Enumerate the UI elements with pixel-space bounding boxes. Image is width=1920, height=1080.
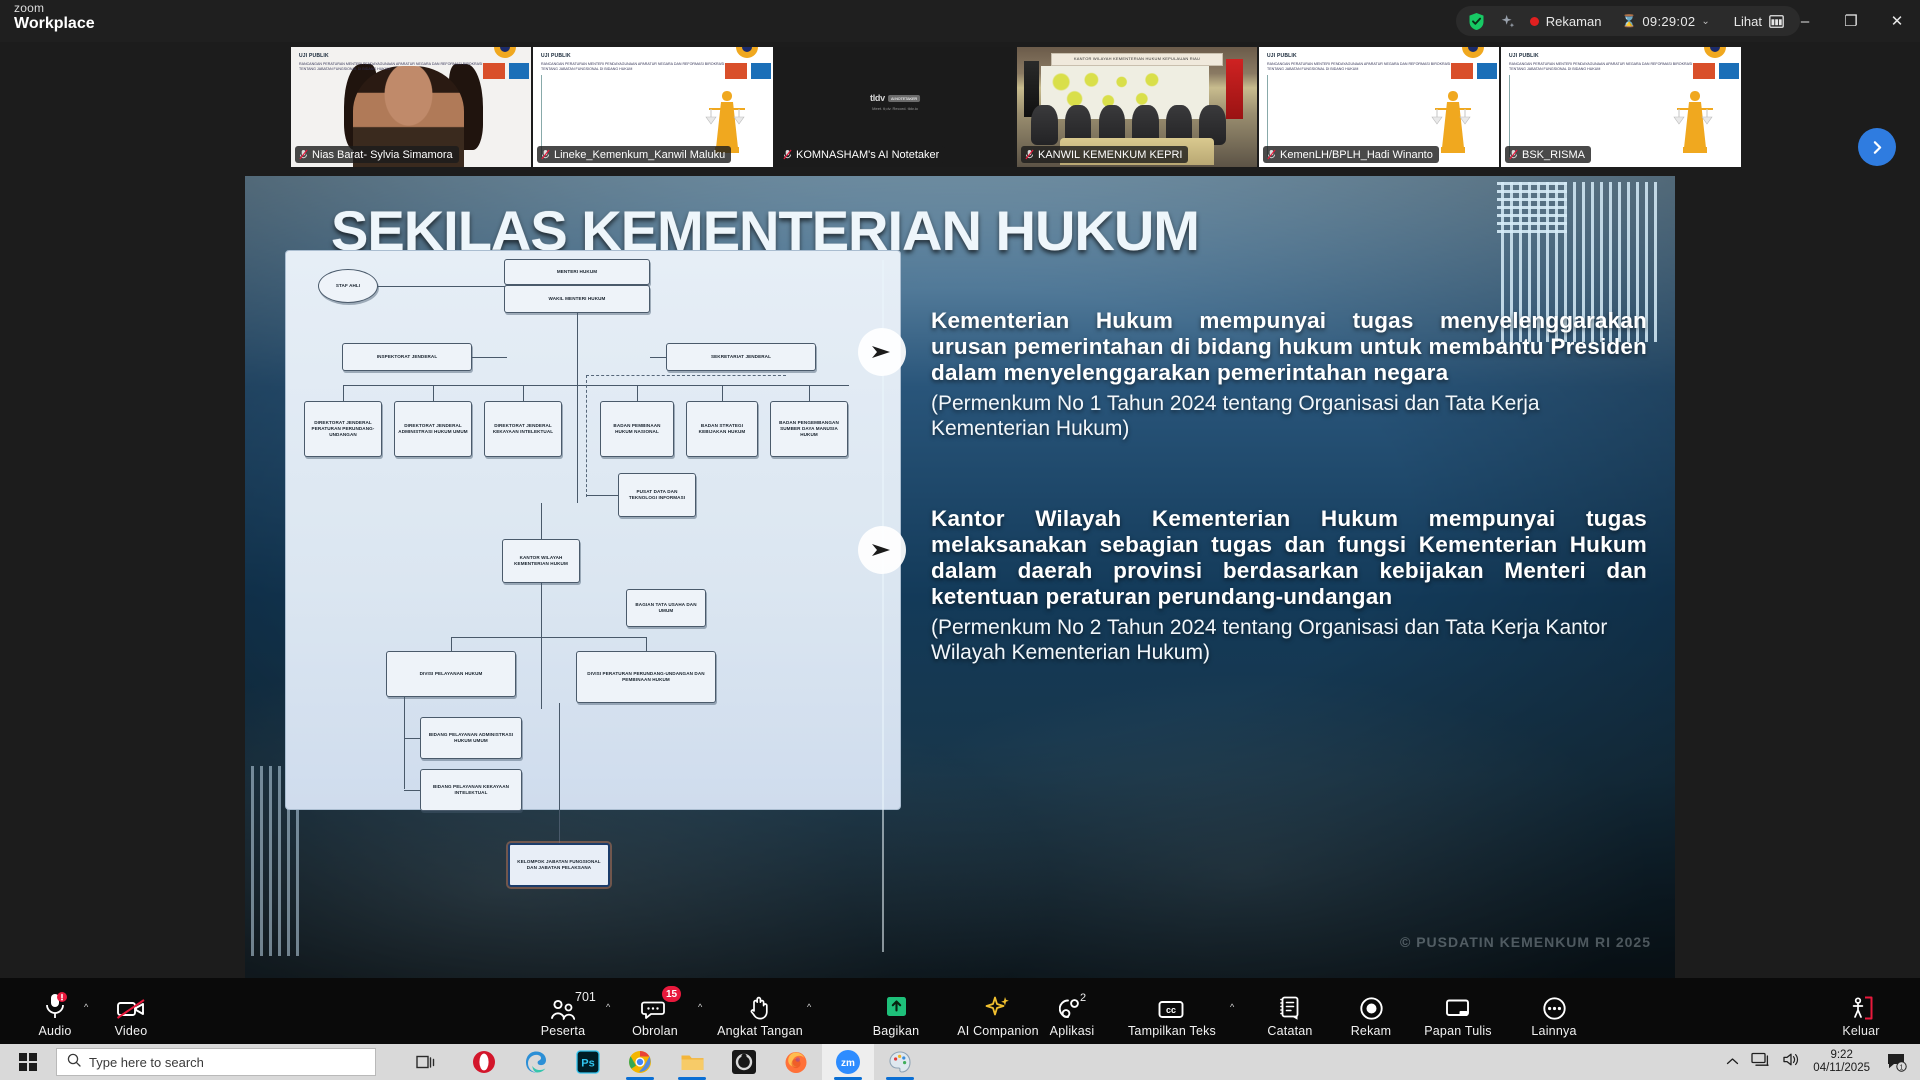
- filmstrip-next-page-button[interactable]: [1858, 128, 1896, 166]
- zoom-meeting-window: zoom Workplace Rekaman ⌛ 09:29:02 ⌄ Liha…: [0, 0, 1920, 1080]
- notification-icon[interactable]: 1: [1882, 1052, 1912, 1072]
- participant-name-tag: Nias Barat- Sylvia Simamora: [295, 146, 459, 163]
- timer-value: 09:29:02: [1642, 14, 1695, 29]
- share-screen-icon: [883, 991, 910, 1021]
- search-icon: [67, 1053, 81, 1072]
- search-placeholder: Type here to search: [89, 1055, 204, 1070]
- org-node: DIREKTORAT JENDERAL ADMINISTRASI HUKUM U…: [394, 401, 472, 457]
- taskbar-clock[interactable]: 9:22 04/11/2025: [1813, 1049, 1870, 1075]
- raised-hand-icon: [748, 991, 772, 1021]
- taskbar-app-obs[interactable]: [718, 1044, 770, 1080]
- more-label: Lainnya: [1531, 1024, 1576, 1038]
- arrow-right-bullet-icon: [858, 526, 906, 574]
- participant-thumbnail[interactable]: KANTOR WILAYAH KEMENTERIAN HUKUM KEPULAU…: [1017, 47, 1257, 167]
- notes-icon: [1278, 991, 1302, 1021]
- more-button[interactable]: Lainnya: [1514, 991, 1594, 1038]
- minimize-button[interactable]: –: [1782, 0, 1828, 42]
- meeting-timer[interactable]: ⌛ 09:29:02 ⌄: [1621, 14, 1709, 29]
- participant-name-tag: BSK_RISMA: [1505, 146, 1591, 163]
- org-node: BIDANG PELAYANAN KEKAYAAN INTELEKTUAL: [420, 769, 522, 811]
- participant-filmstrip[interactable]: UJI PUBLIK RANCANGAN PERATURAN MENTERI P…: [0, 42, 1920, 170]
- thumbnail-doc-header: UJI PUBLIK RANCANGAN PERATURAN MENTERI P…: [1509, 53, 1707, 72]
- whiteboard-icon: [1444, 991, 1472, 1021]
- thumbnail-doc-sub: RANCANGAN PERATURAN MENTERI PENDAYAGUNAA…: [299, 62, 497, 72]
- leave-door-icon: [1847, 991, 1875, 1021]
- thumbnail-doc-sub: RANCANGAN PERATURAN MENTERI PENDAYAGUNAA…: [541, 62, 739, 72]
- mic-muted-icon: [541, 149, 550, 160]
- slide-paragraph: Kementerian Hukum mempunyai tugas menyel…: [931, 308, 1647, 442]
- taskbar-app-zoom[interactable]: zm: [822, 1044, 874, 1080]
- org-chart-panel: STAF AHLI MENTERI HUKUM WAKIL MENTERI HU…: [285, 250, 901, 810]
- maximize-restore-button[interactable]: ❐: [1828, 0, 1874, 42]
- notes-button[interactable]: Catatan: [1252, 991, 1328, 1038]
- more-dots-icon: [1542, 991, 1567, 1021]
- participant-name: Nias Barat- Sylvia Simamora: [312, 149, 453, 161]
- share-screen-label: Bagikan: [873, 1024, 920, 1038]
- org-node: PUSAT DATA DAN TEKNOLOGI INFORMASI: [618, 473, 696, 517]
- mic-muted-icon: [1267, 149, 1276, 160]
- closed-caption-icon: cc: [1157, 991, 1187, 1021]
- ai-sparkle-icon: [984, 991, 1012, 1021]
- mic-muted-icon: [1025, 149, 1034, 160]
- taskbar-app-paint[interactable]: [874, 1044, 926, 1080]
- volume-icon[interactable]: [1782, 1052, 1801, 1072]
- thumbnail-doc-header: UJI PUBLIK RANCANGAN PERATURAN MENTERI P…: [541, 53, 739, 72]
- org-node: BAGIAN TATA USAHA DAN UMUM: [626, 589, 706, 627]
- camera-off-icon: [116, 991, 146, 1021]
- room-banner-text: KANTOR WILAYAH KEMENTERIAN HUKUM KEPULAU…: [1052, 54, 1223, 64]
- taskbar-app-chrome[interactable]: [614, 1044, 666, 1080]
- notetaker-tag: AI NOTETAKER: [888, 95, 920, 102]
- notetaker-sub: Meet. tl;dv. Record. tldv.io: [870, 106, 920, 111]
- participant-thumbnail[interactable]: UJI PUBLIK RANCANGAN PERATURAN MENTERI P…: [1501, 47, 1741, 167]
- chevron-down-icon[interactable]: ⌄: [1701, 16, 1709, 27]
- org-node: WAKIL MENTERI HUKUM: [504, 285, 650, 313]
- chevron-right-icon: [1871, 141, 1884, 154]
- mic-muted-icon: [1509, 149, 1518, 160]
- windows-start-icon[interactable]: [8, 1044, 48, 1080]
- participant-thumbnail[interactable]: UJI PUBLIK RANCANGAN PERATURAN MENTERI P…: [1259, 47, 1499, 167]
- slide-text-column: Kementerian Hukum mempunyai tugas menyel…: [855, 254, 1655, 960]
- slide-paragraph-reference: (Permenkum No 1 Tahun 2024 tentang Organ…: [931, 392, 1647, 442]
- notes-label: Catatan: [1267, 1024, 1312, 1038]
- chat-chevron-up-icon[interactable]: ^: [698, 1002, 702, 1012]
- notetaker-brand: tldv: [870, 93, 885, 103]
- decorative-corner-graphic: [475, 47, 531, 89]
- shared-screen-stage[interactable]: SEKILAS KEMENTERIAN HUKUM: [245, 176, 1675, 986]
- org-node: BADAN STRATEGI KEBIJAKAN HUKUM: [686, 401, 758, 457]
- org-node: KANTOR WILAYAH KEMENTERIAN HUKUM: [502, 539, 580, 583]
- brand-zoom-text: zoom: [14, 2, 95, 14]
- network-icon[interactable]: [1751, 1052, 1770, 1072]
- search-input[interactable]: Type here to search: [56, 1048, 376, 1076]
- mic-muted-icon: [299, 149, 308, 160]
- participant-name-tag: KemenLH/BPLH_Hadi Winanto: [1263, 146, 1439, 163]
- slide-paragraph-body: Kantor Wilayah Kementerian Hukum mempuny…: [931, 506, 1647, 610]
- participants-button[interactable]: 701 Peserta ^: [528, 991, 598, 1038]
- taskbar-app-edge[interactable]: [510, 1044, 562, 1080]
- apps-count: 2: [1080, 992, 1086, 1004]
- org-node: DIVISI PELAYANAN HUKUM: [386, 651, 516, 697]
- participants-count: 701: [575, 990, 596, 1004]
- participant-name: Lineke_Kemenkum_Kanwil Maluku: [554, 149, 725, 161]
- brand-workplace-text: Workplace: [14, 16, 95, 32]
- close-button[interactable]: ✕: [1874, 0, 1920, 42]
- participant-name-tag: KANWIL KEMENKUM KEPRI: [1021, 146, 1188, 163]
- chevron-up-icon[interactable]: [1726, 1053, 1739, 1071]
- recording-indicator[interactable]: Rekaman: [1530, 14, 1602, 29]
- record-label: Rekam: [1351, 1024, 1392, 1038]
- green-shield-check-icon[interactable]: [1468, 12, 1485, 31]
- participant-thumbnail[interactable]: UJI PUBLIK RANCANGAN PERATURAN MENTERI P…: [533, 47, 773, 167]
- thumbnail-doc-title: UJI PUBLIK: [1267, 53, 1465, 59]
- taskbar-app-opera[interactable]: [458, 1044, 510, 1080]
- thumbnail-doc-sub: RANCANGAN PERATURAN MENTERI PENDAYAGUNAA…: [1267, 62, 1465, 72]
- participants-label: Peserta: [541, 1024, 585, 1038]
- meeting-control-bar: Audio ^ Video 701 Peserta ^ 15 Obrolan ^: [0, 978, 1920, 1044]
- org-node: DIVISI PERATURAN PERUNDANG-UNDANGAN DAN …: [576, 651, 716, 703]
- meeting-status-pill: Rekaman ⌛ 09:29:02 ⌄ Lihat: [1456, 6, 1800, 36]
- captions-chevron-up-icon[interactable]: ^: [1230, 1002, 1234, 1012]
- hourglass-icon: ⌛: [1621, 14, 1636, 28]
- clock-date: 04/11/2025: [1813, 1062, 1870, 1074]
- svg-text:zm: zm: [841, 1058, 855, 1069]
- slide-watermark: © PUSDATIN KEMENKUM RI 2025: [1400, 934, 1651, 950]
- svg-text:cc: cc: [1166, 1005, 1176, 1015]
- org-node: BIDANG PELAYANAN ADMINISTRASI HUKUM UMUM: [420, 717, 522, 759]
- view-label: Lihat: [1734, 14, 1762, 29]
- captions-label: Tampilkan Teks: [1128, 1024, 1216, 1038]
- taskbar-app-file-explorer[interactable]: [666, 1044, 718, 1080]
- recording-label: Rekaman: [1546, 14, 1602, 29]
- participant-name-tag: KOMNASHAM's AI Notetaker: [779, 146, 945, 163]
- chat-button[interactable]: 15 Obrolan ^: [620, 991, 690, 1038]
- people-icon: [550, 991, 577, 1021]
- whiteboard-button[interactable]: Papan Tulis: [1408, 991, 1508, 1038]
- audio-chevron-up-icon[interactable]: ^: [84, 1002, 88, 1012]
- mic-muted-icon: [783, 149, 792, 160]
- taskbar-app-photoshop[interactable]: Ps: [562, 1044, 614, 1080]
- raise-hand-chevron-up-icon[interactable]: ^: [807, 1002, 811, 1012]
- org-node: DIREKTORAT JENDERAL PERATURAN PERUNDANG-…: [304, 401, 382, 457]
- video-button[interactable]: Video: [100, 991, 162, 1038]
- participant-thumbnail[interactable]: UJI PUBLIK RANCANGAN PERATURAN MENTERI P…: [291, 47, 531, 167]
- lady-justice-icon: [1669, 83, 1721, 167]
- whiteboard-label: Papan Tulis: [1424, 1024, 1492, 1038]
- audio-label: Audio: [39, 1024, 72, 1038]
- participant-thumbnail[interactable]: tldvAI NOTETAKER Meet. tl;dv. Record. tl…: [775, 47, 1015, 167]
- task-view-icon[interactable]: [405, 1044, 445, 1080]
- captions-button[interactable]: cc Tampilkan Teks ^: [1108, 991, 1236, 1038]
- participant-name: KANWIL KEMENKUM KEPRI: [1038, 149, 1182, 161]
- ai-sparkle-icon[interactable]: [1499, 13, 1516, 30]
- participants-chevron-up-icon[interactable]: ^: [606, 1002, 610, 1012]
- svg-text:Ps: Ps: [581, 1058, 594, 1070]
- leave-button[interactable]: Keluar: [1826, 991, 1896, 1038]
- participant-name: BSK_RISMA: [1522, 149, 1585, 161]
- thumbnail-doc-title: UJI PUBLIK: [1509, 53, 1707, 59]
- share-screen-button[interactable]: Bagikan: [848, 991, 944, 1038]
- raise-hand-label: Angkat Tangan: [717, 1024, 803, 1038]
- thumbnail-doc-title: UJI PUBLIK: [299, 53, 497, 59]
- apps-button[interactable]: 2 Aplikasi: [1028, 991, 1116, 1038]
- thumbnail-doc-title: UJI PUBLIK: [541, 53, 739, 59]
- org-node: BADAN PENGEMBANGAN SUMBER DAYA MANUSIA H…: [770, 401, 848, 457]
- audio-button[interactable]: Audio ^: [24, 991, 86, 1038]
- org-node: BADAN PEMBINAAN HUKUM NASIONAL: [600, 401, 674, 457]
- notetaker-logo: tldvAI NOTETAKER Meet. tl;dv. Record. tl…: [870, 93, 920, 111]
- chat-label: Obrolan: [632, 1024, 678, 1038]
- decorative-corner-graphic: [1443, 47, 1499, 89]
- video-label: Video: [115, 1024, 148, 1038]
- org-node: DIREKTORAT JENDERAL KEKAYAAN INTELEKTUAL: [484, 401, 562, 457]
- taskbar-app-firefox[interactable]: [770, 1044, 822, 1080]
- decorative-corner-graphic: [717, 47, 773, 89]
- org-node-highlighted: KELOMPOK JABATAN FUNGSIONAL DAN JABATAN …: [508, 843, 610, 887]
- recording-dot-icon: [1530, 17, 1539, 26]
- zoom-logo: zoom Workplace: [14, 2, 95, 32]
- slide-paragraph: Kantor Wilayah Kementerian Hukum mempuny…: [931, 506, 1647, 666]
- windows-taskbar: Type here to search Ps zm: [0, 1044, 1920, 1080]
- org-node: INSPEKTORAT JENDERAL: [342, 343, 472, 371]
- participant-name: KemenLH/BPLH_Hadi Winanto: [1280, 149, 1433, 161]
- org-node: STAF AHLI: [318, 269, 378, 303]
- decorative-corner-graphic: [1685, 47, 1741, 89]
- raise-hand-button[interactable]: Angkat Tangan ^: [710, 991, 810, 1038]
- notification-count: 1: [1900, 1064, 1904, 1071]
- thumbnail-doc-header: UJI PUBLIK RANCANGAN PERATURAN MENTERI P…: [1267, 53, 1465, 72]
- participant-name-tag: Lineke_Kemenkum_Kanwil Maluku: [537, 146, 731, 163]
- microphone-muted-icon: [42, 991, 68, 1021]
- leave-label: Keluar: [1842, 1024, 1879, 1038]
- org-node: SEKRETARIAT JENDERAL: [666, 343, 816, 371]
- slide-paragraph-body: Kementerian Hukum mempunyai tugas menyel…: [931, 308, 1647, 386]
- decorative-bars-top: [1497, 182, 1567, 234]
- view-layout-button[interactable]: Lihat: [1734, 14, 1784, 29]
- org-node: MENTERI HUKUM: [504, 259, 650, 285]
- participant-name: KOMNASHAM's AI Notetaker: [796, 149, 939, 161]
- ai-companion-label: AI Companion: [957, 1024, 1039, 1038]
- record-icon: [1359, 991, 1384, 1021]
- chat-unread-badge: 15: [662, 986, 681, 1002]
- thumbnail-doc-header: UJI PUBLIK RANCANGAN PERATURAN MENTERI P…: [299, 53, 497, 72]
- arrow-right-bullet-icon: [858, 328, 906, 376]
- slide-paragraph-reference: (Permenkum No 2 Tahun 2024 tentang Organ…: [931, 616, 1647, 666]
- apps-label: Aplikasi: [1050, 1024, 1095, 1038]
- system-tray: 9:22 04/11/2025 1: [1726, 1044, 1920, 1080]
- title-bar: zoom Workplace Rekaman ⌛ 09:29:02 ⌄ Liha…: [0, 0, 1920, 42]
- record-button[interactable]: Rekam: [1334, 991, 1408, 1038]
- thumbnail-doc-sub: RANCANGAN PERATURAN MENTERI PENDAYAGUNAA…: [1509, 62, 1707, 72]
- clock-time: 9:22: [1830, 1049, 1852, 1061]
